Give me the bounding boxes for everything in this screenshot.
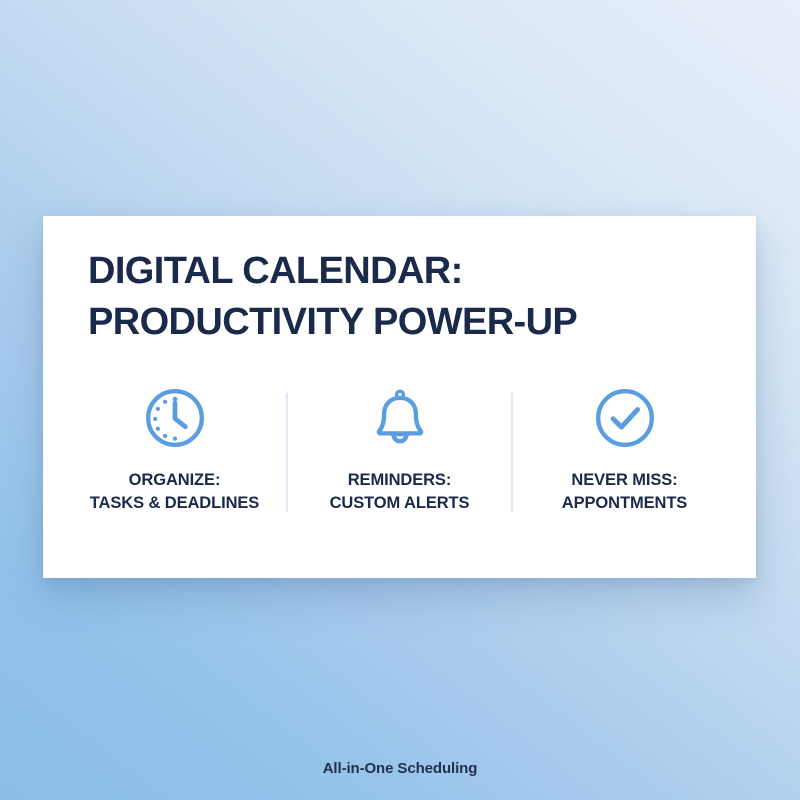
bell-icon [367,381,433,455]
feature-item-organize: ORGANIZE: TASKS & DEADLINES [63,381,286,516]
feature-item-never-miss: NEVER MISS: APPONTMENTS [513,381,736,516]
slide-card: DIGITAL CALENDAR: PRODUCTIVITY POWER-UP [43,216,756,578]
feature-label-line-1: ORGANIZE: [90,469,259,492]
headline-line-1: DIGITAL CALENDAR: [88,246,728,297]
check-circle-icon [592,381,658,455]
clock-icon [142,381,208,455]
feature-row: ORGANIZE: TASKS & DEADLINES REMINDERS: C… [63,381,736,516]
feature-item-reminders: REMINDERS: CUSTOM ALERTS [288,381,511,516]
feature-label-line-1: REMINDERS: [330,469,470,492]
feature-label-reminders: REMINDERS: CUSTOM ALERTS [330,469,470,516]
page-title: DIGITAL CALENDAR: PRODUCTIVITY POWER-UP [88,246,728,347]
feature-label-line-2: TASKS & DEADLINES [90,492,259,515]
feature-label-line-2: CUSTOM ALERTS [330,492,470,515]
headline-line-2: PRODUCTIVITY POWER-UP [88,297,728,348]
feature-label-line-1: NEVER MISS: [562,469,687,492]
feature-label-organize: ORGANIZE: TASKS & DEADLINES [90,469,259,516]
feature-label-never-miss: NEVER MISS: APPONTMENTS [562,469,687,516]
footer-caption: All-in-One Scheduling [0,760,800,777]
feature-label-line-2: APPONTMENTS [562,492,687,515]
